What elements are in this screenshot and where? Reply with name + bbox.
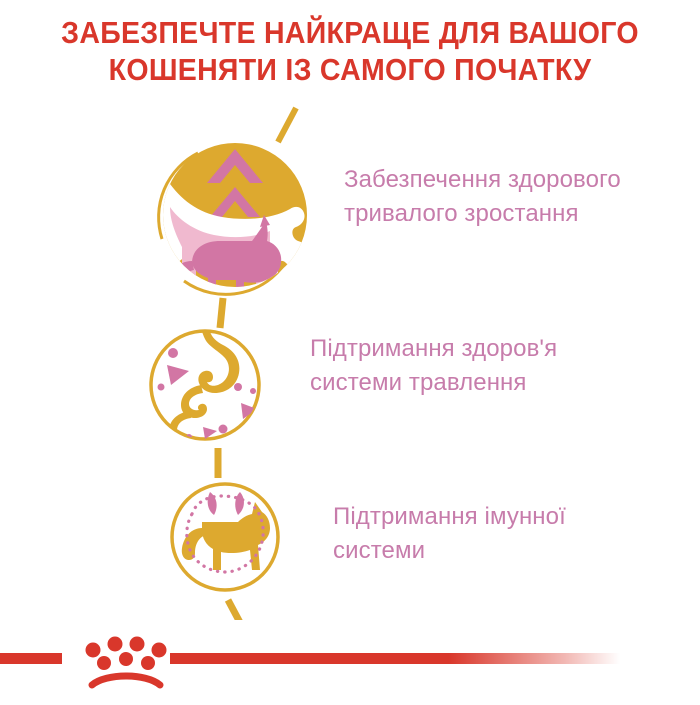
page-title-line-1: ЗАБЕЗПЕЧТЕ НАЙКРАЩЕ ДЛЯ ВАШОГО: [28, 14, 672, 51]
digestive-system-icon: [145, 325, 265, 445]
benefit-text-immunity: Підтримання імунної системи: [333, 500, 663, 568]
immune-shield-cat-icon: [166, 478, 284, 596]
page-title-line-2: КОШЕНЯТИ ІЗ САМОГО ПОЧАТКУ: [28, 51, 672, 88]
benefit-text-digestion: Підтримання здоров'я системи травлення: [310, 332, 640, 400]
page-title: ЗАБЕЗПЕЧТЕ НАЙКРАЩЕ ДЛЯ ВАШОГО КОШЕНЯТИ …: [28, 14, 672, 88]
royal-canin-crown-logo: [0, 612, 700, 700]
growing-kitten-arrows-icon: [140, 135, 315, 310]
product-benefits-panel: ЗАБЕЗПЕЧТЕ НАЙКРАЩЕ ДЛЯ ВАШОГО КОШЕНЯТИ …: [0, 0, 700, 700]
benefit-text-growth: Забезпечення здорового тривалого зростан…: [344, 163, 674, 231]
